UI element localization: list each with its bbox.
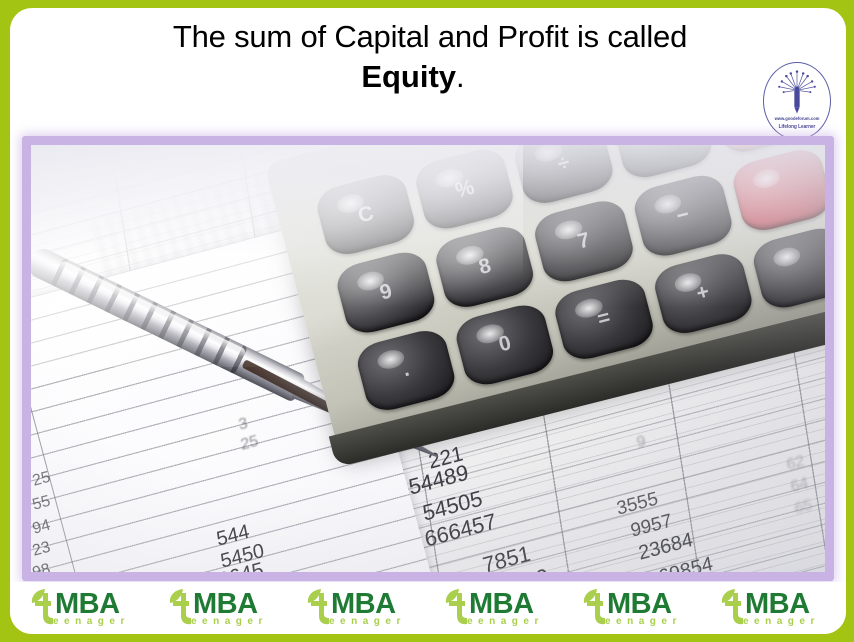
tmba-logo: MBAeenager (299, 586, 419, 630)
title-line-1: The sum of Capital and Profit is called (10, 20, 846, 55)
tmba-subtext: eenager (329, 616, 406, 627)
title-line-2: Equity. (10, 60, 846, 95)
goodeforum-logo: www.goodeforum.com Lifelong Learner (763, 62, 831, 140)
logo-tagline: Lifelong Learner (764, 124, 830, 130)
photo-frame: 6522 96358 45896 63254 22598 86589 25478… (22, 136, 834, 581)
title-period: . (456, 59, 465, 94)
tmba-subtext: eenager (467, 616, 544, 627)
tmba-subtext: eenager (191, 616, 268, 627)
tmba-subtext: eenager (743, 616, 820, 627)
tmba-logo: MBAeenager (575, 586, 695, 630)
tree-pen-icon (764, 69, 830, 117)
tmba-logo-strip: MBAeenagerMBAeenagerMBAeenagerMBAeenager… (10, 582, 846, 634)
tmba-logo: MBAeenager (161, 586, 281, 630)
title-keyword: Equity (361, 59, 456, 94)
tmba-logo: MBAeenager (23, 586, 143, 630)
tmba-subtext: eenager (53, 616, 130, 627)
slide-card: The sum of Capital and Profit is called … (10, 8, 846, 634)
logo-url-text: www.goodeforum.com (764, 116, 830, 122)
spreadsheet-calculator-photo: 6522 96358 45896 63254 22598 86589 25478… (31, 145, 825, 572)
tmba-logo: MBAeenager (713, 586, 833, 630)
page-title: The sum of Capital and Profit is called … (10, 20, 846, 94)
slide-root: The sum of Capital and Profit is called … (0, 0, 854, 642)
tmba-logo: MBAeenager (437, 586, 557, 630)
photo-vignette (31, 145, 825, 572)
tmba-subtext: eenager (605, 616, 682, 627)
